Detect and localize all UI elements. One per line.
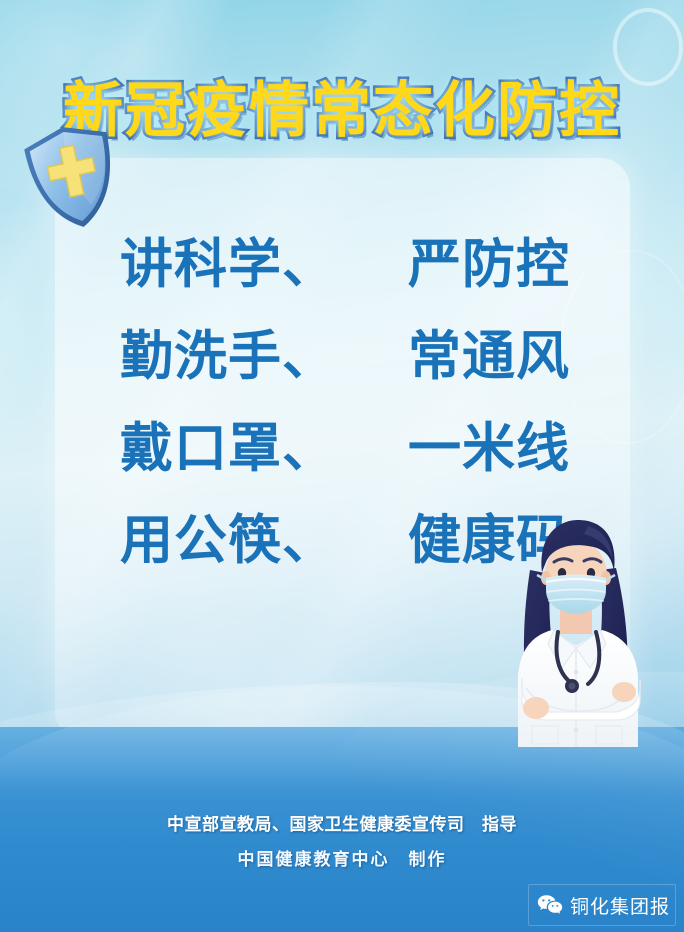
slogan-left: 戴口罩、 <box>120 422 336 475</box>
wechat-icon <box>537 894 563 916</box>
slogan-left: 用公筷、 <box>120 514 336 567</box>
slogan-left: 勤洗手、 <box>120 330 336 383</box>
slogan-row: 讲科学、 严防控 <box>120 238 570 291</box>
poster-root: 新冠疫情常态化防控 讲科学、 严防控 勤洗手、 常通风 <box>0 0 684 932</box>
watermark-badge: 铜化集团报 <box>528 884 676 926</box>
slogan-right: 严防控 <box>408 238 570 291</box>
footer-guidance-line: 中宣部宣教局、国家卫生健康委宣传司 指导 <box>0 810 684 835</box>
slogan-row: 勤洗手、 常通风 <box>120 330 570 383</box>
doctor-illustration <box>492 512 682 747</box>
slogan-row: 戴口罩、 一米线 <box>120 422 570 475</box>
watermark-label: 铜化集团报 <box>570 892 670 919</box>
slogan-right: 常通风 <box>408 330 570 383</box>
slogan-right: 一米线 <box>408 422 570 475</box>
slogan-left: 讲科学、 <box>120 238 336 291</box>
footer-producer-line: 中国健康教育中心 制作 <box>0 845 684 870</box>
